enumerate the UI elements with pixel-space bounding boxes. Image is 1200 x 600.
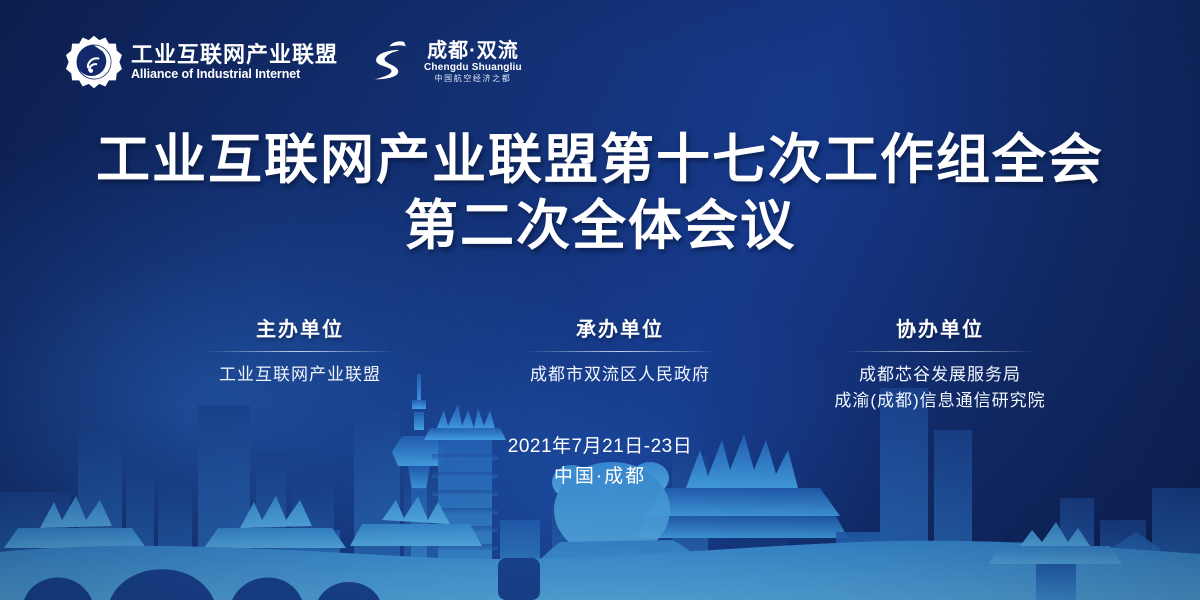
logo-bar: 工业互联网产业联盟 Alliance of Industrial Interne… <box>66 34 522 90</box>
swoosh-plane-icon <box>366 36 418 88</box>
organizer-divider <box>207 351 393 352</box>
event-date: 2021年7月21日-23日 <box>0 432 1200 462</box>
event-title: 工业互联网产业联盟第十七次工作组全会 第二次全体会议 <box>0 128 1200 260</box>
organizers-section: 主办单位 工业互联网产业联盟 承办单位 成都市双流区人民政府 协办单位 成都芯谷… <box>150 318 1090 413</box>
organizer-column-coorganizer: 协办单位 成都芯谷发展服务局 成渝(成都)信息通信研究院 <box>790 318 1090 413</box>
shuangliu-logo: 成都·双流 Chengdu Shuangliu 中国航空经济之都 <box>366 36 522 88</box>
organizer-divider <box>847 351 1033 352</box>
event-title-line-2: 第二次全体会议 <box>0 194 1200 260</box>
shuangliu-tagline: 中国航空经济之都 <box>435 75 512 83</box>
shuangliu-name-cn: 成都·双流 <box>427 41 519 61</box>
alliance-name-cn: 工业互联网产业联盟 <box>131 44 338 66</box>
shuangliu-name-en: Chengdu Shuangliu <box>424 63 522 73</box>
organizer-column-undertaker: 承办单位 成都市双流区人民政府 <box>470 318 770 413</box>
alliance-logo: 工业互联网产业联盟 Alliance of Industrial Interne… <box>66 34 338 90</box>
organizer-role-label: 承办单位 <box>470 318 770 342</box>
shuangliu-logo-text: 成都·双流 Chengdu Shuangliu 中国航空经济之都 <box>424 41 522 83</box>
event-place: 中国·成都 <box>0 462 1200 492</box>
alliance-name-en: Alliance of Industrial Internet <box>131 68 338 81</box>
background-vignette <box>0 0 1200 600</box>
organizer-role-label: 协办单位 <box>790 318 1090 342</box>
organizer-name: 成渝(成都)信息通信研究院 <box>790 388 1090 414</box>
event-datetime-block: 2021年7月21日-23日 中国·成都 <box>0 432 1200 493</box>
organizer-column-host: 主办单位 工业互联网产业联盟 <box>150 318 450 413</box>
conference-banner: 工业互联网产业联盟 Alliance of Industrial Interne… <box>0 0 1200 600</box>
event-title-line-1: 工业互联网产业联盟第十七次工作组全会 <box>0 128 1200 194</box>
organizer-role-label: 主办单位 <box>150 318 450 342</box>
alliance-logo-text: 工业互联网产业联盟 Alliance of Industrial Interne… <box>131 44 338 81</box>
organizer-name: 成都芯谷发展服务局 <box>790 362 1090 388</box>
organizer-name: 工业互联网产业联盟 <box>150 362 450 388</box>
organizer-name: 成都市双流区人民政府 <box>470 362 770 388</box>
organizer-divider <box>527 351 713 352</box>
gear-wifi-icon <box>66 34 122 90</box>
